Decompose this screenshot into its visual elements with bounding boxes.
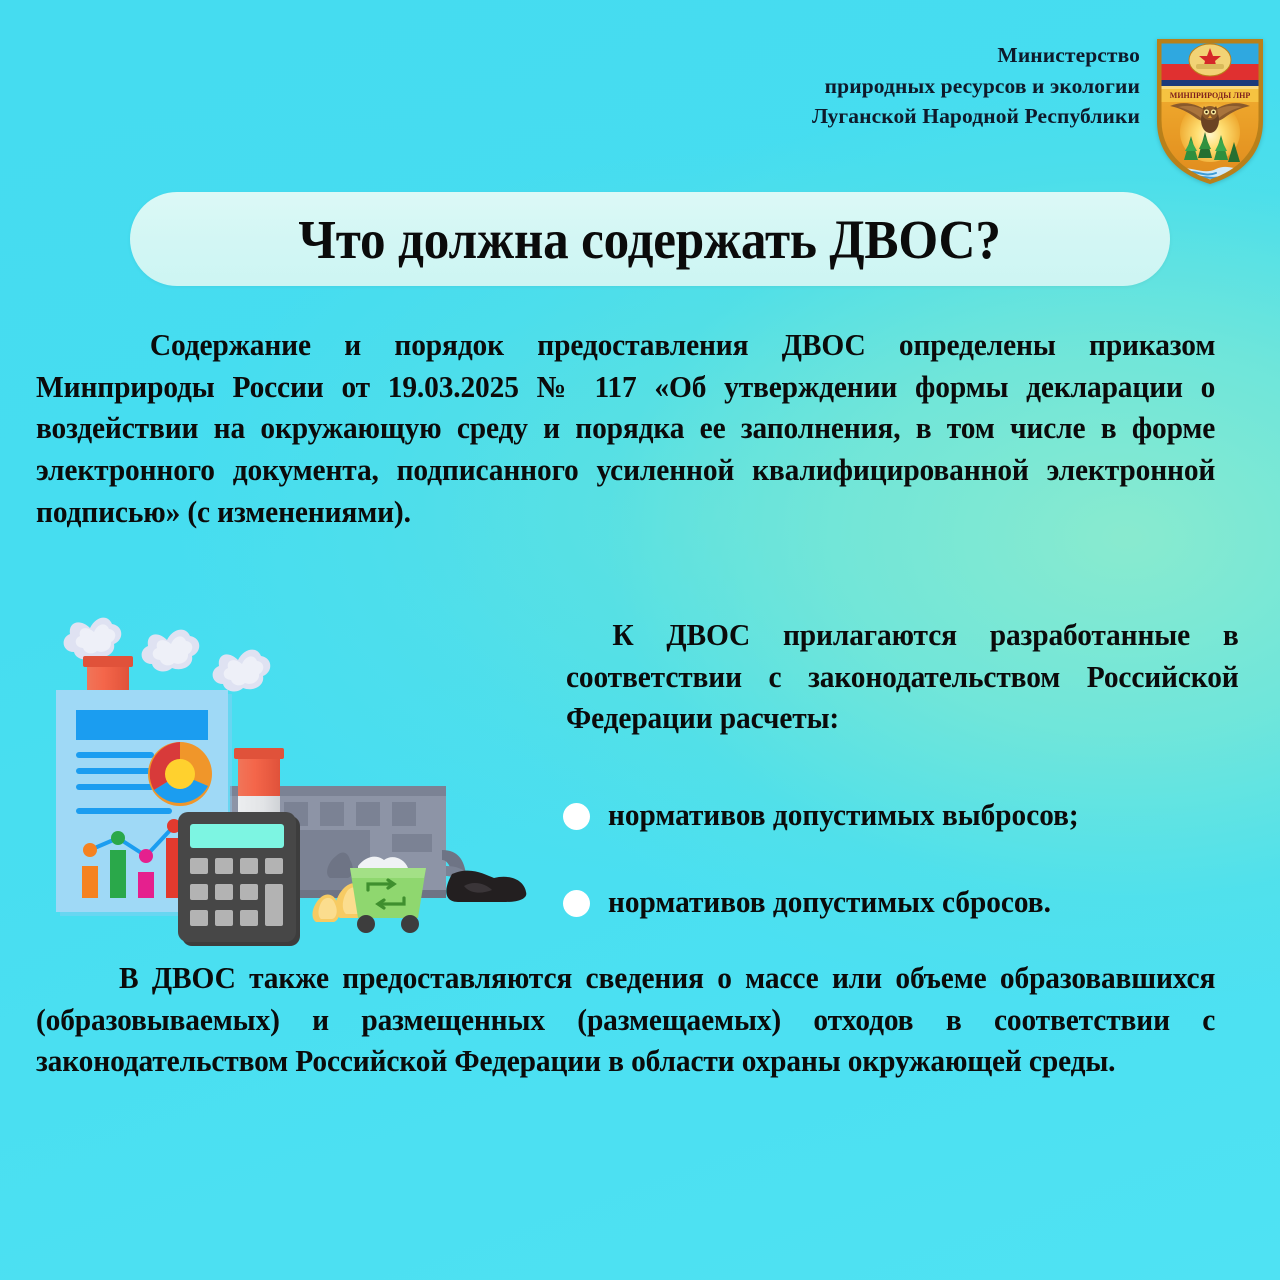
list-item: нормативов допустимых сбросов.: [563, 885, 1069, 920]
bin-wheel-left: [357, 915, 375, 933]
ministry-line-3: Луганской Народной Республики: [812, 101, 1140, 132]
smoke-plume-left: [64, 618, 122, 660]
recycling-bin: [350, 857, 426, 933]
ministry-line-1: Министерство: [812, 40, 1140, 71]
bullet-dot-icon: [563, 890, 590, 917]
calculator: [178, 812, 300, 946]
smoke-plume-right: [213, 650, 271, 692]
factory-illustration: [54, 598, 554, 948]
bin-wheel-right: [401, 915, 419, 933]
calculator-screen: [190, 824, 284, 848]
bullet-dot-icon: [563, 803, 590, 830]
ministry-line-2: природных ресурсов и экологии: [812, 71, 1140, 102]
paragraph-attachments: К ДВОС прилагаются разработанные в соотв…: [566, 615, 1239, 740]
emblem-ribbon-text: МИНПРИРОДЫ ЛНР: [1170, 91, 1251, 100]
coat-of-arms: [1189, 44, 1231, 76]
page-title-pill: Что должна содержать ДВОС?: [130, 192, 1170, 286]
page-title: Что должна содержать ДВОС?: [299, 208, 1001, 271]
paragraph-waste: В ДВОС также предоставляются сведения о …: [36, 958, 1215, 1083]
bullet-label-discharges: нормативов допустимых сбросов.: [608, 885, 1051, 920]
list-item: нормативов допустимых выбросов;: [563, 798, 1098, 833]
smoke-plume-middle: [142, 630, 200, 672]
ministry-title: Министерство природных ресурсов и эколог…: [812, 36, 1140, 132]
paragraph-intro: Содержание и порядок предоставления ДВОС…: [36, 325, 1215, 533]
header-block: Министерство природных ресурсов и эколог…: [812, 36, 1266, 184]
bullet-label-emissions: нормативов допустимых выбросов;: [608, 798, 1079, 833]
coal-pile: [446, 871, 526, 902]
ministry-emblem-icon: МИНПРИРОДЫ ЛНР: [1154, 36, 1266, 184]
donut-chart: [148, 742, 212, 806]
